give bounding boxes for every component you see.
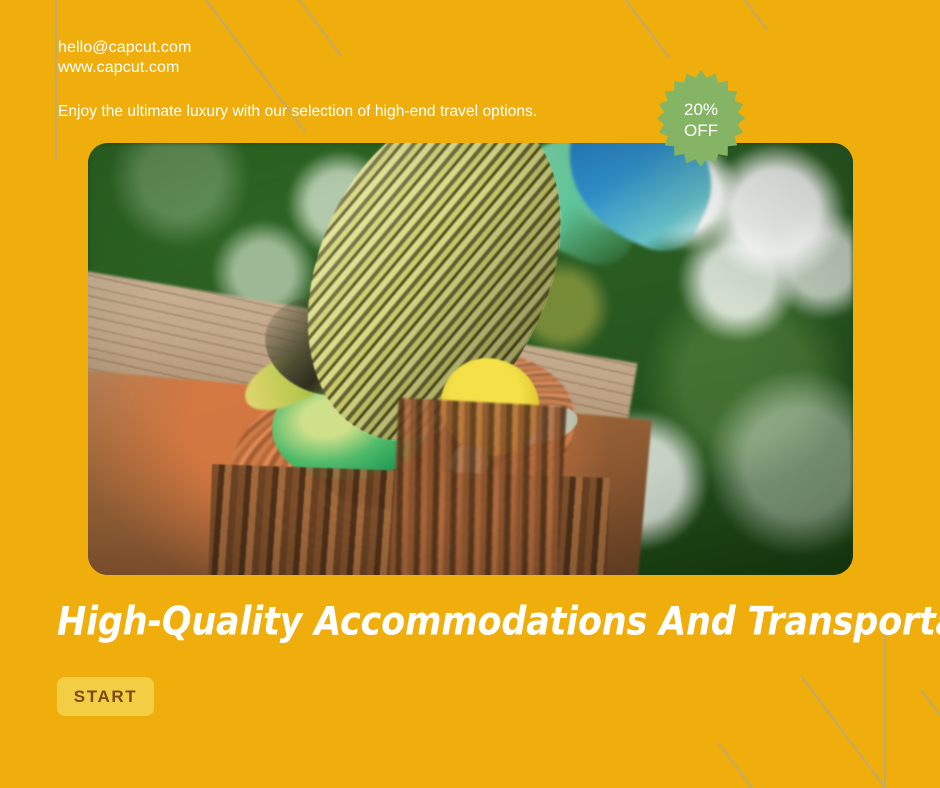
tagline-text: Enjoy the ultimate luxury with our selec… [58, 102, 537, 122]
photo-vignette [88, 143, 853, 575]
page-title: High-Quality Accommodations And Transpor… [57, 600, 887, 645]
decorative-vertical-line-left [55, 0, 57, 160]
decorative-diagonal-line-4 [700, 0, 768, 30]
decorative-diagonal-line-2 [268, 0, 342, 56]
promo-banner: hello@capcut.com www.capcut.com Enjoy th… [0, 0, 940, 788]
decorative-diagonal-line-3 [590, 0, 670, 58]
start-button[interactable]: START [57, 677, 154, 716]
discount-badge: 20% OFF [651, 69, 751, 171]
hero-photo [88, 143, 853, 575]
decorative-diagonal-line-6 [718, 743, 792, 788]
photo-illustration [88, 143, 853, 575]
contact-website[interactable]: www.capcut.com [58, 58, 191, 78]
contact-email[interactable]: hello@capcut.com [58, 38, 191, 58]
decorative-diagonal-line-7 [920, 689, 940, 788]
starburst-icon [651, 69, 751, 171]
decorative-diagonal-line-5 [800, 675, 892, 788]
contact-block: hello@capcut.com www.capcut.com [58, 38, 191, 78]
